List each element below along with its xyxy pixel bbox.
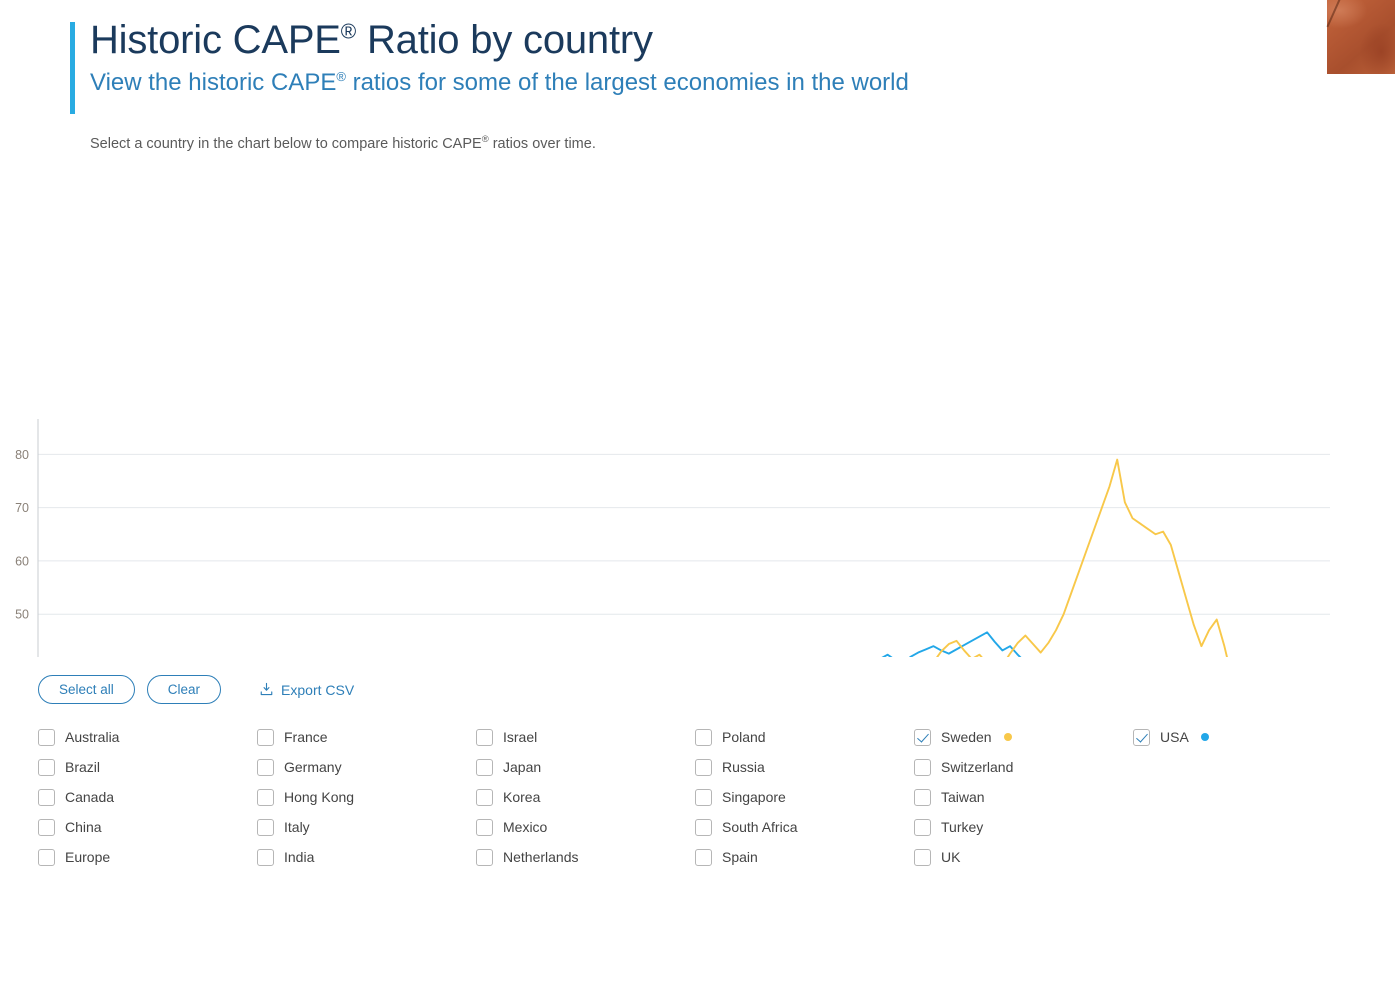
country-label: Mexico <box>503 819 547 835</box>
page-title-main: Historic CAPE <box>90 18 341 62</box>
checkbox-unchecked-icon[interactable] <box>257 789 274 806</box>
country-label: Hong Kong <box>284 789 354 805</box>
country-label: Singapore <box>722 789 786 805</box>
checkbox-unchecked-icon[interactable] <box>476 819 493 836</box>
checkbox-unchecked-icon[interactable] <box>914 819 931 836</box>
checkbox-unchecked-icon[interactable] <box>695 849 712 866</box>
country-checkbox-france[interactable]: France <box>257 726 476 748</box>
country-label: China <box>65 819 102 835</box>
checkbox-unchecked-icon[interactable] <box>695 789 712 806</box>
country-checkbox-italy[interactable]: Italy <box>257 816 476 838</box>
cape-ratio-line-chart[interactable]: 1020304050607080 19851990199520002005201… <box>0 182 1395 657</box>
checkbox-checked-icon[interactable] <box>1133 729 1150 746</box>
checkbox-unchecked-icon[interactable] <box>38 759 55 776</box>
country-checkbox-canada[interactable]: Canada <box>38 786 257 808</box>
page-subtitle-main: View the historic CAPE <box>90 69 336 96</box>
country-checkbox-germany[interactable]: Germany <box>257 756 476 778</box>
chart-series-group <box>38 460 1395 657</box>
country-label: Brazil <box>65 759 100 775</box>
country-label: Canada <box>65 789 114 805</box>
page-subtitle-rest: ratios for some of the largest economies… <box>346 69 909 96</box>
checkbox-unchecked-icon[interactable] <box>257 849 274 866</box>
country-label: India <box>284 849 314 865</box>
checkbox-unchecked-icon[interactable] <box>38 729 55 746</box>
instruction-text: Select a country in the chart below to c… <box>90 134 1395 154</box>
checkbox-unchecked-icon[interactable] <box>914 849 931 866</box>
registered-mark-icon: ® <box>336 69 346 84</box>
chart-svg: 1020304050607080 19851990199520002005201… <box>0 182 1395 657</box>
country-checkbox-israel[interactable]: Israel <box>476 726 695 748</box>
country-label: Switzerland <box>941 759 1013 775</box>
header-accent-bar <box>70 22 75 114</box>
country-label: Korea <box>503 789 540 805</box>
svg-text:50: 50 <box>15 608 29 622</box>
country-checkbox-australia[interactable]: Australia <box>38 726 257 748</box>
country-label: Europe <box>65 849 110 865</box>
checkbox-unchecked-icon[interactable] <box>914 759 931 776</box>
country-checkbox-switzerland[interactable]: Switzerland <box>914 756 1133 778</box>
export-csv-label: Export CSV <box>281 682 354 698</box>
country-checkbox-india[interactable]: India <box>257 846 476 868</box>
checkbox-unchecked-icon[interactable] <box>257 819 274 836</box>
country-checkbox-poland[interactable]: Poland <box>695 726 914 748</box>
select-all-button[interactable]: Select all <box>38 675 135 705</box>
country-label: Sweden <box>941 729 992 745</box>
series-color-dot <box>1004 733 1012 741</box>
country-label: Australia <box>65 729 119 745</box>
svg-text:60: 60 <box>15 554 29 568</box>
page-title-rest: Ratio by country <box>356 18 653 62</box>
checkbox-unchecked-icon[interactable] <box>38 789 55 806</box>
page-title: Historic CAPE® Ratio by country <box>90 18 1395 63</box>
checkbox-unchecked-icon[interactable] <box>914 789 931 806</box>
country-label: Italy <box>284 819 310 835</box>
country-checkbox-korea[interactable]: Korea <box>476 786 695 808</box>
page-header: Historic CAPE® Ratio by country View the… <box>0 0 1395 98</box>
country-checkbox-spain[interactable]: Spain <box>695 846 914 868</box>
series-line-sweden <box>38 460 1395 657</box>
series-line-usa <box>38 632 1395 657</box>
chart-gridlines <box>38 454 1330 657</box>
country-label: Poland <box>722 729 766 745</box>
country-checkbox-singapore[interactable]: Singapore <box>695 786 914 808</box>
svg-text:80: 80 <box>15 448 29 462</box>
country-label: Israel <box>503 729 537 745</box>
svg-text:70: 70 <box>15 501 29 515</box>
country-checkbox-netherlands[interactable]: Netherlands <box>476 846 695 868</box>
country-label: France <box>284 729 328 745</box>
checkbox-unchecked-icon[interactable] <box>476 729 493 746</box>
country-checkbox-turkey[interactable]: Turkey <box>914 816 1133 838</box>
country-checkbox-europe[interactable]: Europe <box>38 846 257 868</box>
header-title-block: Historic CAPE® Ratio by country View the… <box>70 18 1395 98</box>
country-checkbox-sweden[interactable]: Sweden <box>914 726 1133 748</box>
country-label: UK <box>941 849 960 865</box>
country-checkbox-china[interactable]: China <box>38 816 257 838</box>
chart-y-axis-labels: 1020304050607080 <box>15 448 29 657</box>
country-label: Taiwan <box>941 789 985 805</box>
registered-mark-icon: ® <box>341 21 356 44</box>
checkbox-unchecked-icon[interactable] <box>257 759 274 776</box>
country-checkbox-south-africa[interactable]: South Africa <box>695 816 914 838</box>
country-label: Japan <box>503 759 541 775</box>
chart-controls: Select all Clear Export CSV <box>38 675 1395 705</box>
clear-button[interactable]: Clear <box>147 675 221 705</box>
checkbox-unchecked-icon[interactable] <box>695 759 712 776</box>
country-checkbox-usa[interactable]: USA <box>1133 726 1352 748</box>
export-csv-button[interactable]: Export CSV <box>259 682 354 698</box>
checkbox-checked-icon[interactable] <box>914 729 931 746</box>
country-label: South Africa <box>722 819 798 835</box>
checkbox-unchecked-icon[interactable] <box>38 819 55 836</box>
country-checkbox-grid: AustraliaFranceIsraelPolandSwedenUSABraz… <box>38 726 1395 868</box>
country-checkbox-taiwan[interactable]: Taiwan <box>914 786 1133 808</box>
registered-mark-icon: ® <box>482 134 489 145</box>
checkbox-unchecked-icon[interactable] <box>695 819 712 836</box>
checkbox-unchecked-icon[interactable] <box>257 729 274 746</box>
download-tray-icon <box>259 682 274 697</box>
checkbox-unchecked-icon[interactable] <box>476 849 493 866</box>
instruction-text-after: ratios over time. <box>489 136 596 152</box>
country-label: Spain <box>722 849 758 865</box>
country-label: USA <box>1160 729 1189 745</box>
series-color-dot <box>1201 733 1209 741</box>
checkbox-unchecked-icon[interactable] <box>476 789 493 806</box>
country-label: Russia <box>722 759 765 775</box>
checkbox-unchecked-icon[interactable] <box>695 729 712 746</box>
country-checkbox-hong-kong[interactable]: Hong Kong <box>257 786 476 808</box>
page-subtitle: View the historic CAPE® ratios for some … <box>90 69 1395 98</box>
checkbox-unchecked-icon[interactable] <box>476 759 493 776</box>
checkbox-unchecked-icon[interactable] <box>38 849 55 866</box>
country-checkbox-mexico[interactable]: Mexico <box>476 816 695 838</box>
country-checkbox-russia[interactable]: Russia <box>695 756 914 778</box>
country-label: Turkey <box>941 819 983 835</box>
country-label: Germany <box>284 759 342 775</box>
country-checkbox-japan[interactable]: Japan <box>476 756 695 778</box>
country-label: Netherlands <box>503 849 579 865</box>
country-checkbox-uk[interactable]: UK <box>914 846 1133 868</box>
country-checkbox-brazil[interactable]: Brazil <box>38 756 257 778</box>
instruction-text-before: Select a country in the chart below to c… <box>90 136 482 152</box>
